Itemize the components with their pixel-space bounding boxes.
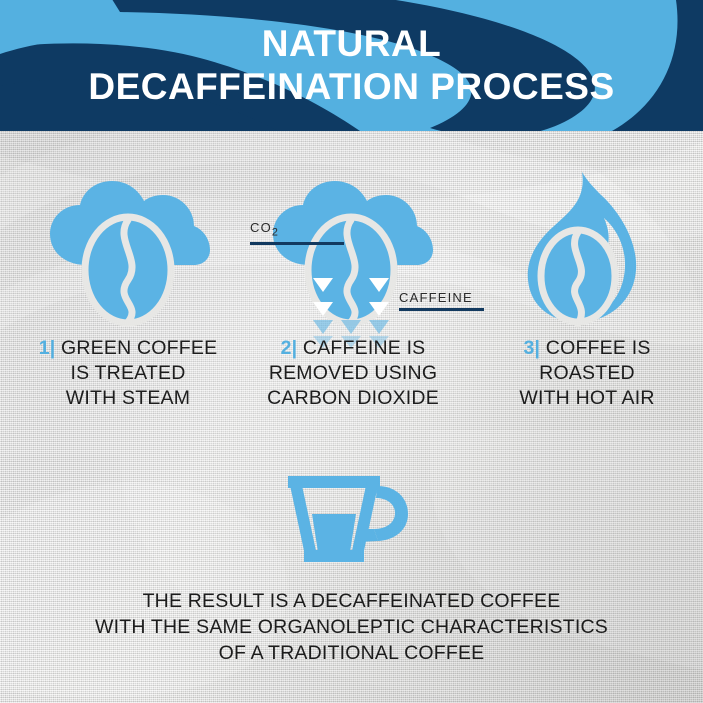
header-title: NATURAL DECAFFEINATION PROCESS [0,0,703,131]
step-1-number: 1 [39,337,50,359]
step-2-separator: | [292,337,298,359]
result-line-3: OF A TRADITIONAL COFFEE [0,640,703,666]
co2-underline-rule [250,242,344,245]
step-3-line-1: 3| COFFEE IS [472,336,702,361]
cloud-coffee-bean-dripping-icon [251,170,451,350]
infographic-poster: NATURAL DECAFFEINATION PROCESS [0,0,703,703]
co2-label: CO2 [250,220,344,245]
caffeine-label: CAFFEINE [399,290,484,311]
flame-coffee-bean-icon [478,170,678,330]
step-2-text-1: CAFFEINE IS [303,337,425,359]
header-title-line1: NATURAL [262,23,442,65]
step-3-text-1: COFFEE IS [546,337,651,359]
step-1-text-3: WITH STEAM [13,386,243,411]
drip-triangles-blue [313,320,389,334]
cloud-coffee-bean-icon [28,170,228,330]
process-icons-row [0,170,703,330]
result-text: THE RESULT IS A DECAFFEINATED COFFEE WIT… [0,588,703,666]
step-1-icon-cell [28,170,228,330]
step-2-number: 2 [281,337,292,359]
step-1-text-2: IS TREATED [13,361,243,386]
step-3-separator: | [535,337,541,359]
coffee-cup-icon [282,472,422,564]
caffeine-underline-rule [399,308,484,311]
result-line-2: WITH THE SAME ORGANOLEPTIC CHARACTERISTI… [0,614,703,640]
header-title-line2: DECAFFEINATION PROCESS [88,65,614,109]
step-1-separator: | [50,337,56,359]
step-captions: 1| GREEN COFFEE IS TREATED WITH STEAM 2|… [0,336,703,426]
step-1-line-1: 1| GREEN COFFEE [13,336,243,361]
result-icon-wrap [0,472,703,564]
step-2-line-1: 2| CAFFEINE IS [238,336,468,361]
step-3-icon-cell [478,170,678,330]
co2-label-subscript: 2 [272,227,279,239]
step-2-text-2: REMOVED USING [238,361,468,386]
step-2-caption: 2| CAFFEINE IS REMOVED USING CARBON DIOX… [238,336,468,411]
header-banner: NATURAL DECAFFEINATION PROCESS [0,0,703,131]
step-3-text-2: ROASTED [472,361,702,386]
co2-label-text: CO [250,220,272,235]
caffeine-label-text: CAFFEINE [399,290,473,305]
step-1-text-1: GREEN COFFEE [61,337,217,359]
step-3-number: 3 [523,337,534,359]
step-3-caption: 3| COFFEE IS ROASTED WITH HOT AIR [472,336,702,411]
step-2-text-3: CARBON DIOXIDE [238,386,468,411]
result-line-1: THE RESULT IS A DECAFFEINATED COFFEE [0,588,703,614]
step-3-text-3: WITH HOT AIR [472,386,702,411]
step-1-caption: 1| GREEN COFFEE IS TREATED WITH STEAM [13,336,243,411]
